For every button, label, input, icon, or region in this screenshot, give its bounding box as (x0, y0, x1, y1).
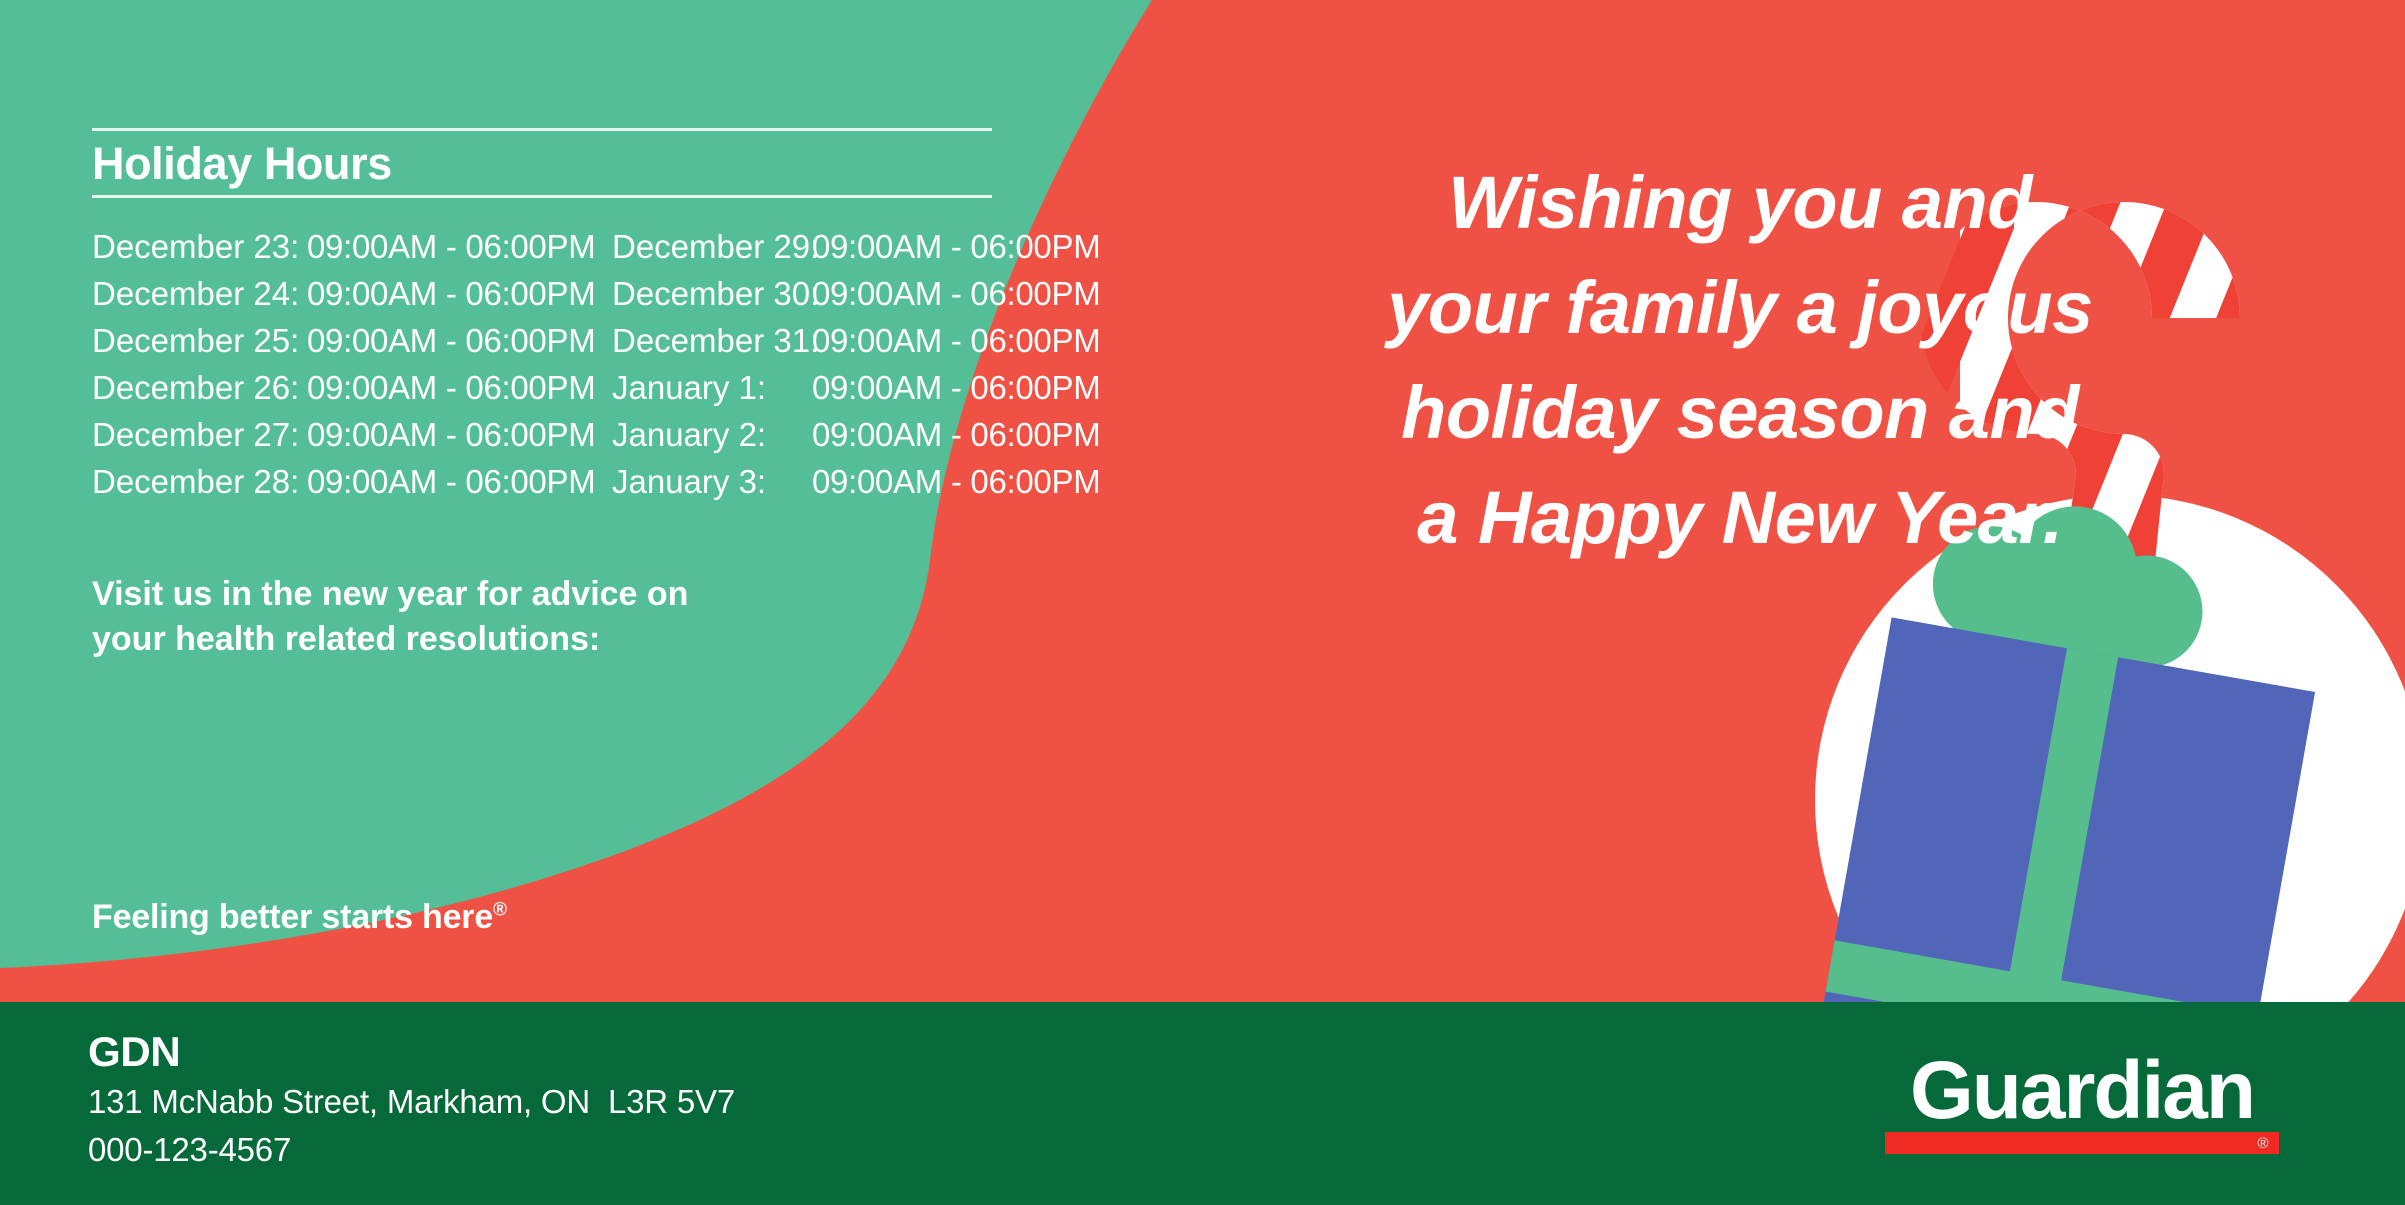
hours-row: December 23: 09:00AM - 06:00PM (92, 228, 612, 275)
hours-day: December 26: (92, 369, 307, 407)
greeting-line-1: Wishing you and (1310, 150, 2170, 255)
store-info: GDN 131 McNabb Street, Markham, ON L3R 5… (88, 1030, 735, 1169)
rule-bottom (92, 195, 992, 198)
hours-time: 09:00AM - 06:00PM (812, 416, 1097, 454)
hours-row: December 29: 09:00AM - 06:00PM (612, 228, 1102, 275)
hours-day: January 1: (612, 369, 812, 407)
hours-grid: December 23: 09:00AM - 06:00PM December … (92, 228, 1102, 510)
holiday-hours-title: Holiday Hours (92, 131, 1102, 195)
hours-row: December 28: 09:00AM - 06:00PM (92, 463, 612, 510)
brand-tagline-text: Feeling better starts here (92, 898, 493, 936)
hours-time: 09:00AM - 06:00PM (307, 275, 595, 313)
hours-column-right: December 29: 09:00AM - 06:00PM December … (612, 228, 1102, 510)
hours-time: 09:00AM - 06:00PM (307, 228, 595, 266)
store-name: GDN (88, 1030, 735, 1074)
hours-day: December 27: (92, 416, 307, 454)
hours-day: December 25: (92, 322, 307, 360)
hours-day: January 2: (612, 416, 812, 454)
hours-time: 09:00AM - 06:00PM (307, 369, 595, 407)
hours-day: December 29: (612, 228, 812, 266)
hours-day: December 31: (612, 322, 812, 360)
store-phone: 000-123-4567 (88, 1130, 735, 1170)
holiday-card: Holiday Hours December 23: 09:00AM - 06:… (0, 0, 2405, 1205)
hours-day: December 28: (92, 463, 307, 501)
footer: GDN 131 McNabb Street, Markham, ON L3R 5… (0, 1002, 2405, 1205)
hours-row: December 26: 09:00AM - 06:00PM (92, 369, 612, 416)
guardian-logo-underbar (1885, 1132, 2279, 1154)
visit-note-line-1: Visit us in the new year for advice on (92, 572, 852, 617)
greeting-message: Wishing you and your family a joyous hol… (1310, 150, 2170, 570)
hours-column-left: December 23: 09:00AM - 06:00PM December … (92, 228, 612, 510)
hours-row: December 27: 09:00AM - 06:00PM (92, 416, 612, 463)
guardian-logo: Guardian ® (1877, 1040, 2287, 1162)
greeting-line-2: your family a joyous (1310, 255, 2170, 360)
hours-row: December 30: 09:00AM - 06:00PM (612, 275, 1102, 322)
hours-row: January 3: 09:00AM - 06:00PM (612, 463, 1102, 510)
hours-day: December 23: (92, 228, 307, 266)
brand-tagline: Feeling better starts here® (92, 898, 507, 937)
hours-time: 09:00AM - 06:00PM (812, 228, 1097, 266)
rule-top (92, 128, 992, 131)
hours-row: January 2: 09:00AM - 06:00PM (612, 416, 1102, 463)
hours-day: December 30: (612, 275, 812, 313)
hours-day: January 3: (612, 463, 812, 501)
hours-row: December 31: 09:00AM - 06:00PM (612, 322, 1102, 369)
visit-note: Visit us in the new year for advice on y… (92, 572, 852, 662)
guardian-wordmark: Guardian (1910, 1045, 2254, 1136)
holiday-hours-panel: Holiday Hours December 23: 09:00AM - 06:… (92, 128, 1102, 510)
hours-row: December 24: 09:00AM - 06:00PM (92, 275, 612, 322)
hours-time: 09:00AM - 06:00PM (307, 463, 595, 501)
hours-day: December 24: (92, 275, 307, 313)
hours-time: 09:00AM - 06:00PM (812, 275, 1097, 313)
greeting-line-4: a Happy New Year. (1310, 465, 2170, 570)
store-address: 131 McNabb Street, Markham, ON L3R 5V7 (88, 1082, 735, 1122)
hours-time: 09:00AM - 06:00PM (307, 416, 595, 454)
hours-time: 09:00AM - 06:00PM (812, 322, 1097, 360)
hours-row: December 25: 09:00AM - 06:00PM (92, 322, 612, 369)
hours-time: 09:00AM - 06:00PM (812, 463, 1097, 501)
hours-row: January 1: 09:00AM - 06:00PM (612, 369, 1102, 416)
visit-note-line-2: your health related resolutions: (92, 617, 852, 662)
hours-time: 09:00AM - 06:00PM (812, 369, 1097, 407)
guardian-registered-icon: ® (2257, 1135, 2268, 1152)
greeting-line-3: holiday season and (1310, 360, 2170, 465)
hours-time: 09:00AM - 06:00PM (307, 322, 595, 360)
registered-trademark-icon: ® (493, 900, 507, 921)
